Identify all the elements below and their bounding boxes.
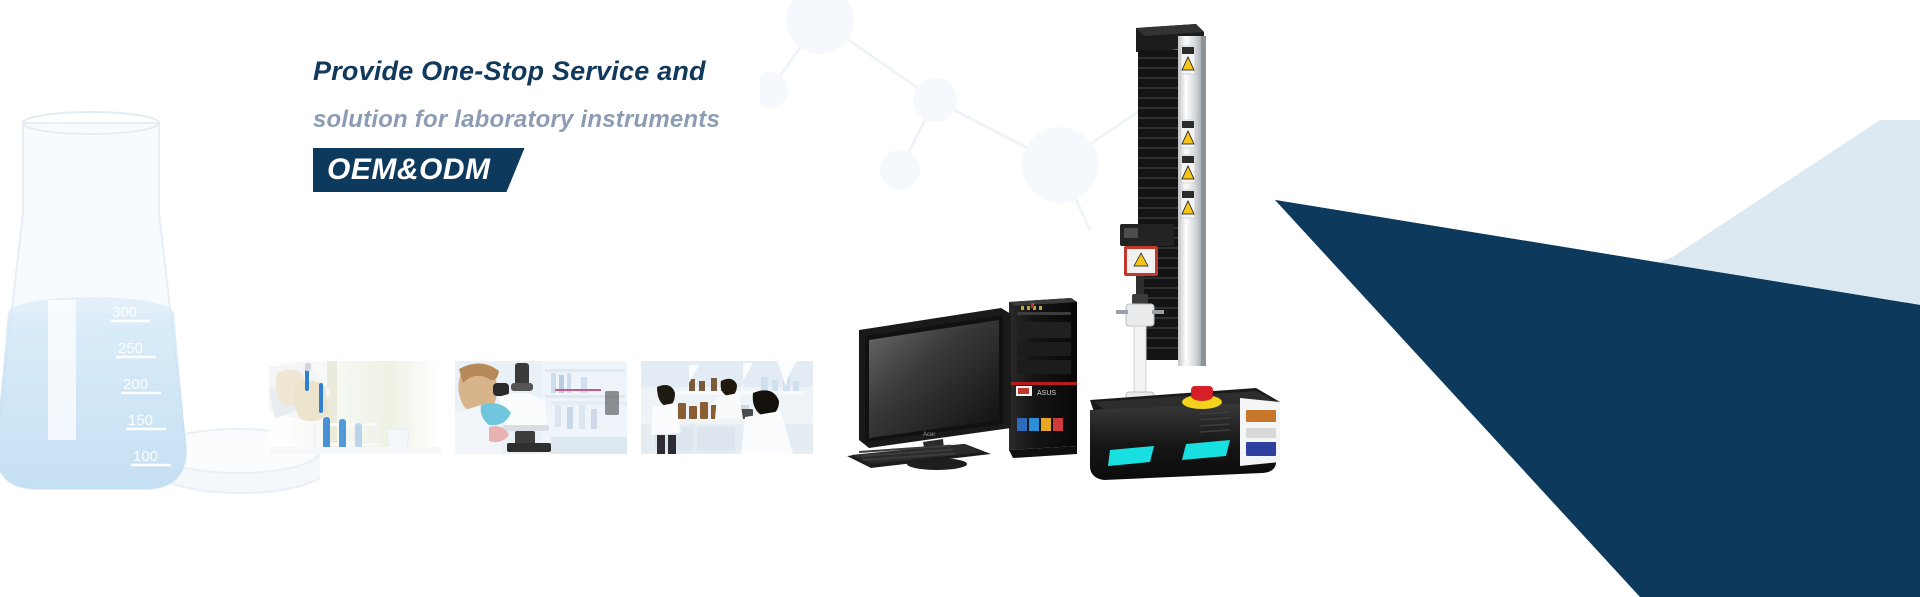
pc-tower: ASUS xyxy=(1009,298,1077,458)
flask-grad-200: 200 xyxy=(123,376,148,393)
flask-grad-300: 300 xyxy=(112,304,137,321)
photo-microscope xyxy=(455,361,627,454)
machine-warning-label xyxy=(1181,120,1195,148)
hero-banner: 300 250 200 150 100 mL Provide One-Stop … xyxy=(0,0,1920,597)
oem-odm-badge: OEM&ODM xyxy=(313,148,525,192)
photo-lab-team xyxy=(641,361,813,454)
arrow-light-triangle-2 xyxy=(1660,160,1920,330)
arrow-navy-wedge xyxy=(1275,200,1920,597)
photo-pipetting xyxy=(269,361,441,454)
flask-grad-250: 250 xyxy=(118,340,143,357)
liquid-surface xyxy=(8,297,174,329)
headline-line-1: Provide One-Stop Service and xyxy=(313,58,1013,85)
desktop-computer: ASUS Acer xyxy=(845,278,1085,478)
svg-text:ASUS: ASUS xyxy=(1037,390,1056,397)
svg-text:Acer: Acer xyxy=(923,432,935,438)
machine-warning-label xyxy=(1181,190,1195,218)
headline-block: Provide One-Stop Service and solution fo… xyxy=(313,58,1013,192)
machine-base xyxy=(1090,386,1280,480)
flask-highlight xyxy=(48,300,76,440)
flask-liquid xyxy=(0,313,186,489)
machine-warning-label xyxy=(1181,46,1195,74)
machine-warning-label xyxy=(1181,155,1195,183)
arrow-navy-wedge-tip xyxy=(1275,200,1920,360)
headline-line-2: solution for laboratory instruments xyxy=(313,108,1013,132)
universal-testing-machine xyxy=(1080,10,1290,480)
arrow-light-triangle xyxy=(1665,120,1920,300)
photo-strip xyxy=(269,361,813,454)
flask-grad-150: 150 xyxy=(128,412,153,429)
molecule-node xyxy=(786,0,854,54)
flask-grad-100: 100 xyxy=(133,448,158,465)
